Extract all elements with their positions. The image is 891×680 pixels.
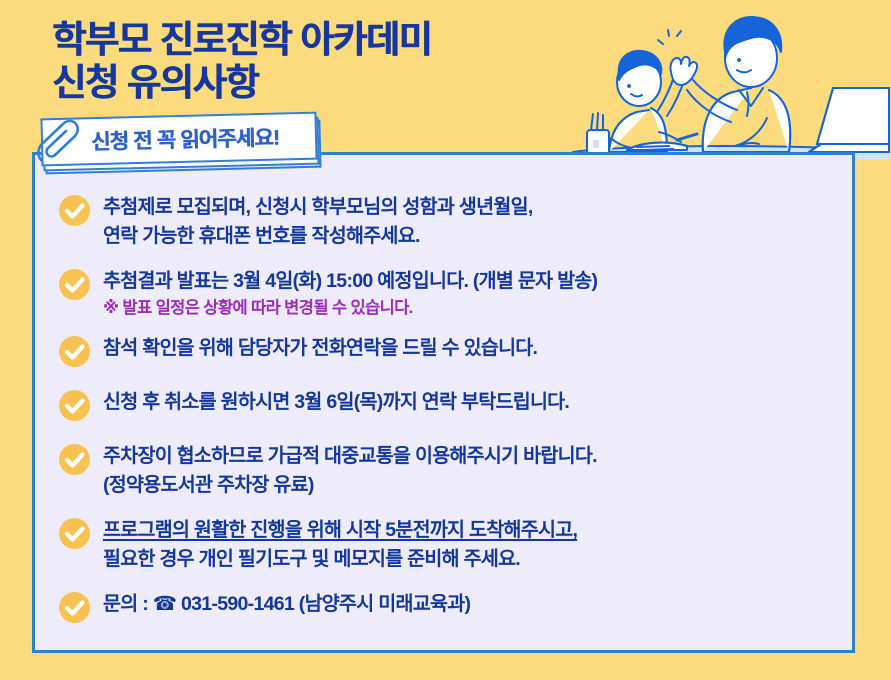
list-item-text: 프로그램의 원활한 진행을 위해 시작 5분전까지 도착해주시고, 필요한 경우… (103, 515, 577, 574)
check-circle-icon (58, 443, 91, 476)
notice-line: 연락 가능한 휴대폰 번호를 작성해주세요. (103, 222, 533, 251)
check-circle-icon (58, 335, 91, 368)
notice-line: 필요한 경우 개인 필기도구 및 메모지를 준비해 주세요. (103, 545, 577, 574)
parent-child-highfive-desk-illustration (571, 0, 891, 175)
list-item: 추첨결과 발표는 3월 4일(화) 15:00 예정입니다. (개별 문자 발송… (58, 266, 848, 321)
notice-line: 추첨제로 모집되며, 신청시 학부모님의 성함과 생년월일, (103, 193, 533, 222)
list-item: 주차장이 협소하므로 가급적 대중교통을 이용해주시기 바랍니다. (정약용도서… (58, 441, 848, 500)
tab-label: 신청 전 꼭 읽어주세요! (91, 122, 280, 157)
notice-line: 추첨결과 발표는 3월 4일(화) 15:00 예정입니다. (개별 문자 발송… (103, 267, 597, 296)
list-item-text: 추첨제로 모집되며, 신청시 학부모님의 성함과 생년월일, 연락 가능한 휴대… (103, 192, 533, 251)
notice-line: 주차장이 협소하므로 가급적 대중교통을 이용해주시기 바랍니다. (103, 442, 597, 471)
list-item-text: 참석 확인을 위해 담당자가 전화연락을 드릴 수 있습니다. (103, 333, 537, 363)
list-item-text: 신청 후 취소를 원하시면 3월 6일(목)까지 연락 부탁드립니다. (103, 387, 569, 417)
list-item-text: 추첨결과 발표는 3월 4일(화) 15:00 예정입니다. (개별 문자 발송… (103, 266, 597, 321)
list-item: 문의 : ☎ 031-590-1461 (남양주시 미래교육과) (58, 589, 848, 624)
notice-subnote: ※ 발표 일정은 상황에 따라 변경될 수 있습니다. (103, 296, 597, 321)
poster-root: 학부모 진로진학 아카데미 신청 유의사항 신청 전 꼭 읽어주세요! (0, 0, 891, 680)
list-item-text: 주차장이 협소하므로 가급적 대중교통을 이용해주시기 바랍니다. (정약용도서… (103, 441, 597, 500)
title-line-2: 신청 유의사항 (52, 61, 431, 104)
contact-line: 문의 : ☎ 031-590-1461 (남양주시 미래교육과) (103, 590, 470, 619)
list-item: 프로그램의 원활한 진행을 위해 시작 5분전까지 도착해주시고, 필요한 경우… (58, 515, 848, 574)
list-item: 신청 후 취소를 원하시면 3월 6일(목)까지 연락 부탁드립니다. (58, 387, 848, 422)
notice-list: 추첨제로 모집되며, 신청시 학부모님의 성함과 생년월일, 연락 가능한 휴대… (58, 192, 848, 624)
list-item: 추첨제로 모집되며, 신청시 학부모님의 성함과 생년월일, 연락 가능한 휴대… (58, 192, 848, 251)
notice-line: 참석 확인을 위해 담당자가 전화연락을 드릴 수 있습니다. (103, 334, 537, 363)
tab-card: 신청 전 꼭 읽어주세요! (40, 112, 317, 167)
notice-line: 신청 후 취소를 원하시면 3월 6일(목)까지 연락 부탁드립니다. (103, 388, 569, 417)
check-circle-icon (58, 517, 91, 550)
notice-line: 프로그램의 원활한 진행을 위해 시작 5분전까지 도착해주시고, (103, 516, 577, 545)
list-item-text: 문의 : ☎ 031-590-1461 (남양주시 미래교육과) (103, 589, 470, 619)
notice-line: (정약용도서관 주차장 유료) (103, 471, 597, 500)
read-before-apply-tab: 신청 전 꼭 읽어주세요! (33, 113, 333, 175)
check-circle-icon (58, 194, 91, 227)
title-line-1: 학부모 진로진학 아카데미 (52, 18, 431, 61)
check-circle-icon (58, 389, 91, 422)
list-item: 참석 확인을 위해 담당자가 전화연락을 드릴 수 있습니다. (58, 333, 848, 368)
check-circle-icon (58, 591, 91, 624)
page-title: 학부모 진로진학 아카데미 신청 유의사항 (52, 18, 431, 104)
check-circle-icon (58, 268, 91, 301)
paperclip-icon (33, 117, 79, 169)
